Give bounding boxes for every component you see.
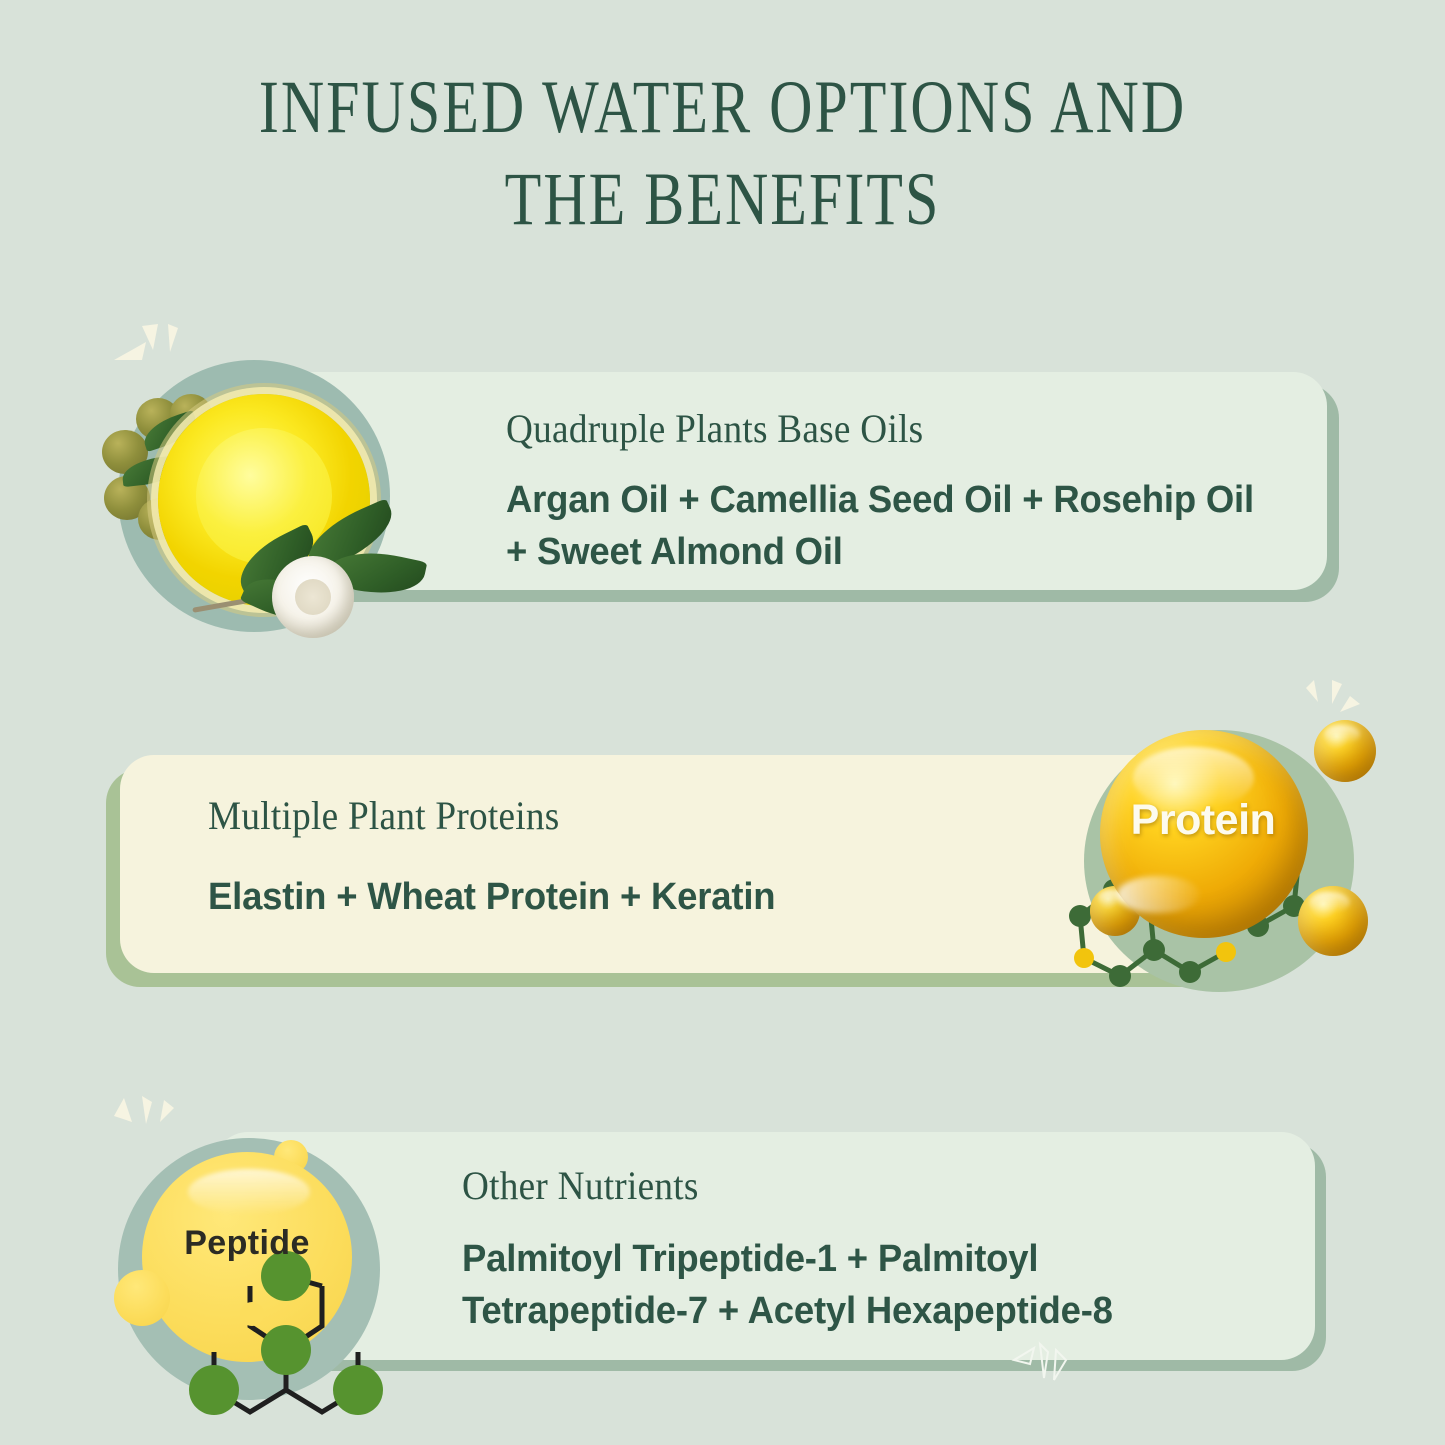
card-subhead: Multiple Plant Proteins bbox=[208, 793, 1008, 839]
card-text-block: Quadruple Plants Base Oils Argan Oil + C… bbox=[506, 406, 1316, 578]
card-main-text: Palmitoyl Tripeptide-1 + Palmitoyl Tetra… bbox=[462, 1233, 1220, 1337]
card-main-text: Argan Oil + Camellia Seed Oil + Rosehip … bbox=[506, 474, 1284, 578]
gold-sphere-icon bbox=[1298, 886, 1368, 956]
infographic-page: INFUSED WATER OPTIONS AND THE BENEFITS bbox=[0, 0, 1445, 1445]
sparkle-burst-icon bbox=[1288, 678, 1366, 734]
card-text-block: Multiple Plant Proteins Elastin + Wheat … bbox=[208, 793, 1068, 923]
camellia-flower-icon bbox=[272, 556, 354, 638]
card-subhead: Quadruple Plants Base Oils bbox=[506, 406, 1259, 452]
golden-protein-droplet-icon: Protein bbox=[1062, 678, 1402, 1018]
page-title: INFUSED WATER OPTIONS AND THE BENEFITS bbox=[145, 62, 1301, 246]
sparkle-burst-icon bbox=[1010, 1338, 1080, 1392]
card-main-text: Elastin + Wheat Protein + Keratin bbox=[208, 871, 1034, 923]
protein-label: Protein bbox=[1062, 796, 1344, 845]
sparkle-burst-icon bbox=[112, 316, 198, 370]
bowl-of-plant-oil-icon bbox=[88, 312, 508, 642]
sparkle-burst-icon bbox=[110, 1090, 190, 1144]
card-subhead: Other Nutrients bbox=[462, 1163, 1197, 1209]
yellow-dot-icon bbox=[240, 1302, 264, 1326]
yellow-peptide-bubble-icon: Peptide bbox=[100, 1090, 440, 1430]
peptide-label: Peptide bbox=[142, 1224, 352, 1263]
card-text-block: Other Nutrients Palmitoyl Tripeptide-1 +… bbox=[462, 1163, 1252, 1337]
